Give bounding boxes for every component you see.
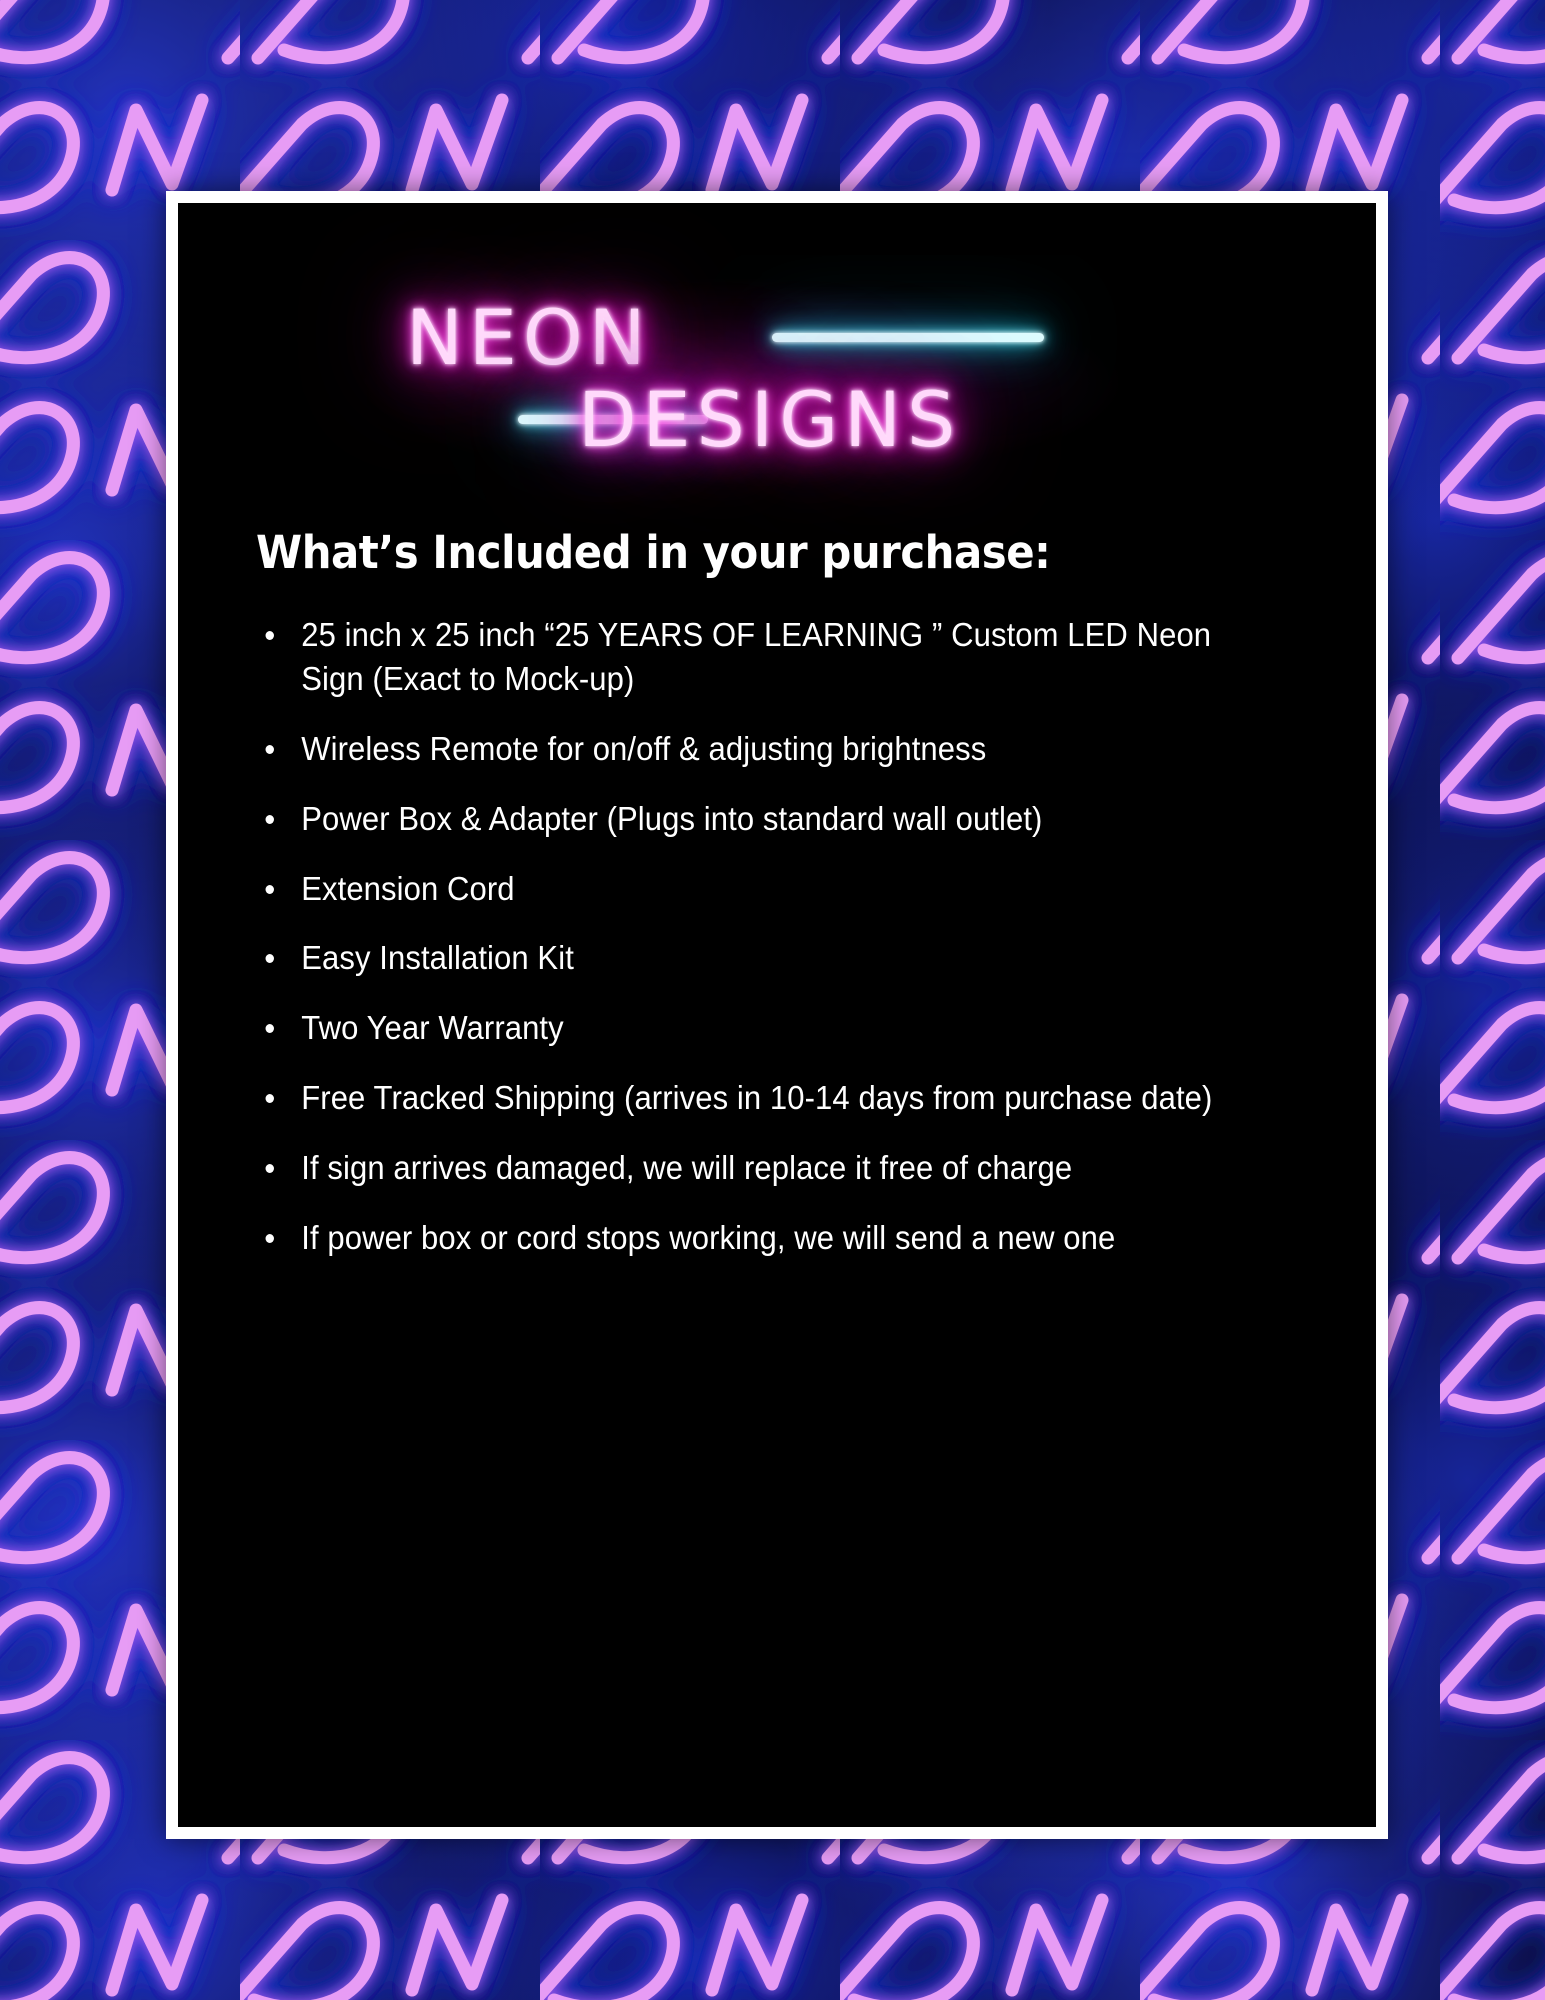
logo-word-neon: NEON	[406, 293, 652, 382]
list-item: Wireless Remote for on/off & adjusting b…	[258, 727, 1256, 771]
neon-designs-logo: NEON DESIGNS	[178, 247, 1376, 512]
list-item: Free Tracked Shipping (arrives in 10-14 …	[258, 1076, 1256, 1120]
card-white-frame: NEON DESIGNS What’s Included in your pur…	[166, 191, 1388, 1839]
list-item: Easy Installation Kit	[258, 936, 1256, 980]
cyan-bar-top-icon	[772, 333, 1044, 342]
list-item: Extension Cord	[258, 867, 1256, 911]
list-item: If sign arrives damaged, we will replace…	[258, 1146, 1256, 1190]
list-item: If power box or cord stops working, we w…	[258, 1216, 1256, 1260]
logo-word-designs: DESIGNS	[578, 375, 961, 464]
content-area: What’s Included in your purchase: 25 inc…	[178, 526, 1376, 1260]
list-item: Power Box & Adapter (Plugs into standard…	[258, 797, 1256, 841]
page-title: What’s Included in your purchase:	[256, 526, 1246, 579]
page-root: NEON DESIGNS What’s Included in your pur…	[0, 0, 1545, 2000]
list-item: 25 inch x 25 inch “25 YEARS OF LEARNING …	[258, 613, 1256, 701]
list-item: Two Year Warranty	[258, 1006, 1256, 1050]
included-items-list: 25 inch x 25 inch “25 YEARS OF LEARNING …	[234, 613, 1320, 1260]
card-body: NEON DESIGNS What’s Included in your pur…	[178, 203, 1376, 1827]
